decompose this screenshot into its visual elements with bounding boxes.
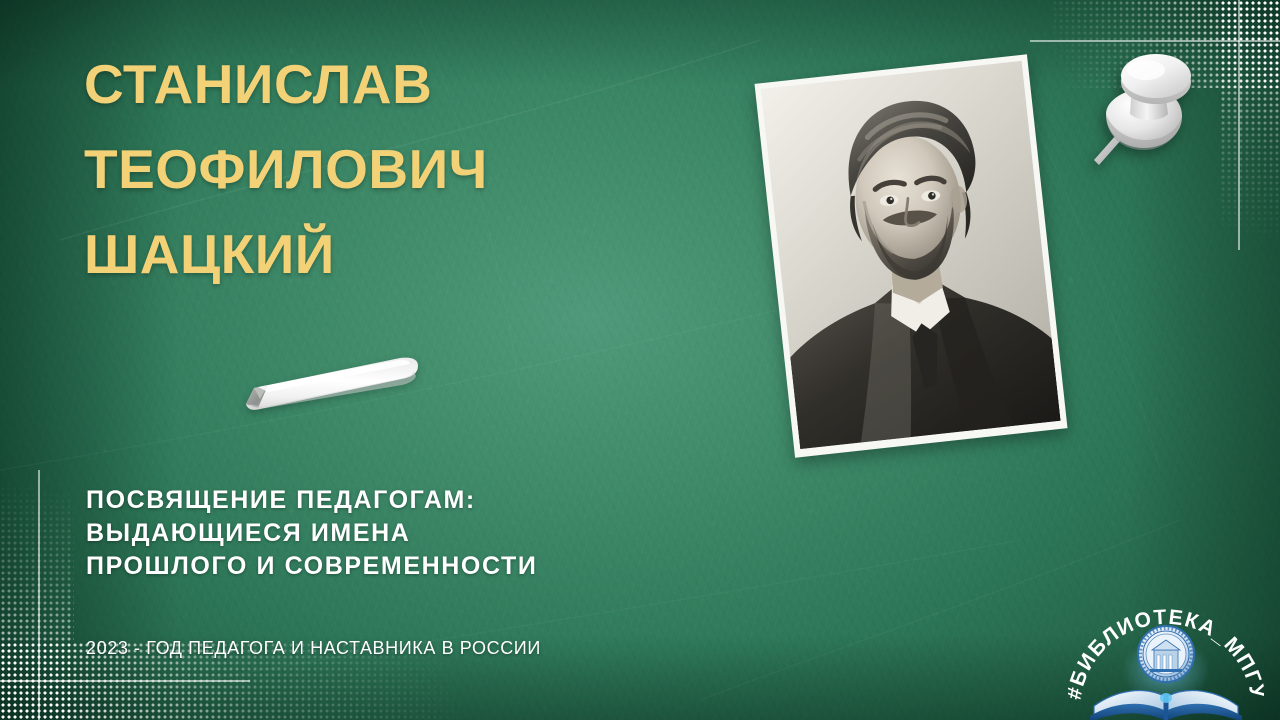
- page-title: СТАНИСЛАВ ТЕОФИЛОВИЧ ШАЦКИЙ: [84, 42, 724, 297]
- portrait-photo: [761, 61, 1061, 449]
- subtitle-line-3: ПРОШЛОГО И СОВРЕМЕННОСТИ: [86, 550, 706, 583]
- subtitle-line-1: ПОСВЯЩЕНИЕ ПЕДАГОГАМ:: [86, 484, 706, 517]
- title-line-2: ТЕОФИЛОВИЧ: [84, 127, 724, 212]
- chalk-stick-icon: [228, 352, 428, 422]
- title-line-1: СТАНИСЛАВ: [84, 42, 724, 127]
- open-book-icon: [1090, 691, 1242, 720]
- subtitle-line-2: ВЫДАЮЩИЕСЯ ИМЕНА: [86, 517, 706, 550]
- subtitle: ПОСВЯЩЕНИЕ ПЕДАГОГАМ: ВЫДАЮЩИЕСЯ ИМЕНА П…: [86, 484, 706, 583]
- library-logo: #БИБЛИОТЕКА_МПГУ: [1068, 598, 1264, 720]
- push-pin-icon: [1082, 48, 1210, 178]
- title-line-3: ШАЦКИЙ: [84, 212, 724, 297]
- presentation-slide: СТАНИСЛАВ ТЕОФИЛОВИЧ ШАЦКИЙ: [0, 0, 1280, 720]
- year-caption: 2023 - ГОД ПЕДАГОГА И НАСТАВНИКА В РОССИ…: [86, 638, 541, 659]
- seal-emblem: [1138, 626, 1194, 682]
- portrait-photo-card: [754, 54, 1067, 457]
